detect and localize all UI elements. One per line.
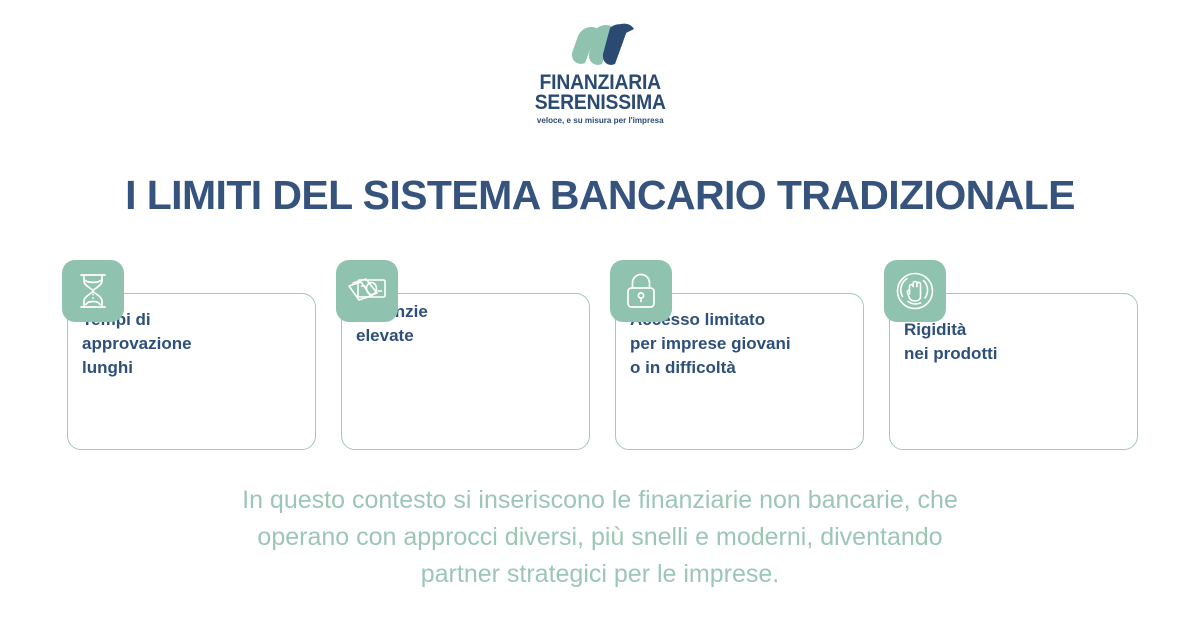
page-title: I LIMITI DEL SISTEMA BANCARIO TRADIZIONA… xyxy=(0,172,1200,219)
limit-card: Tempi di approvazione lunghi xyxy=(62,260,316,450)
limits-card-list: Tempi di approvazione lunghi Garanzie el… xyxy=(62,260,1138,450)
limit-card: Rigidità nei prodotti xyxy=(884,260,1138,450)
stop-hand-icon xyxy=(884,260,946,322)
brand-logo: FINANZIARIA SERENISSIMA veloce, e su mis… xyxy=(0,22,1200,125)
limit-card: Accesso limitato per imprese giovani o i… xyxy=(610,260,864,450)
limit-card: Garanzie elevate xyxy=(336,260,590,450)
infographic-page: FINANZIARIA SERENISSIMA veloce, e su mis… xyxy=(0,0,1200,627)
card-text: Rigidità nei prodotti xyxy=(904,318,1126,366)
brand-wordmark: FINANZIARIA SERENISSIMA veloce, e su mis… xyxy=(529,73,672,125)
brand-name-line2: SERENISSIMA xyxy=(534,93,665,113)
footnote-text: In questo contesto si inseriscono le fin… xyxy=(100,482,1100,593)
hourglass-icon xyxy=(62,260,124,322)
banknotes-icon xyxy=(336,260,398,322)
finanziaria-serenissima-mark-icon xyxy=(552,22,648,68)
brand-tagline: veloce, e su misura per l'impresa xyxy=(532,117,667,125)
padlock-icon xyxy=(610,260,672,322)
